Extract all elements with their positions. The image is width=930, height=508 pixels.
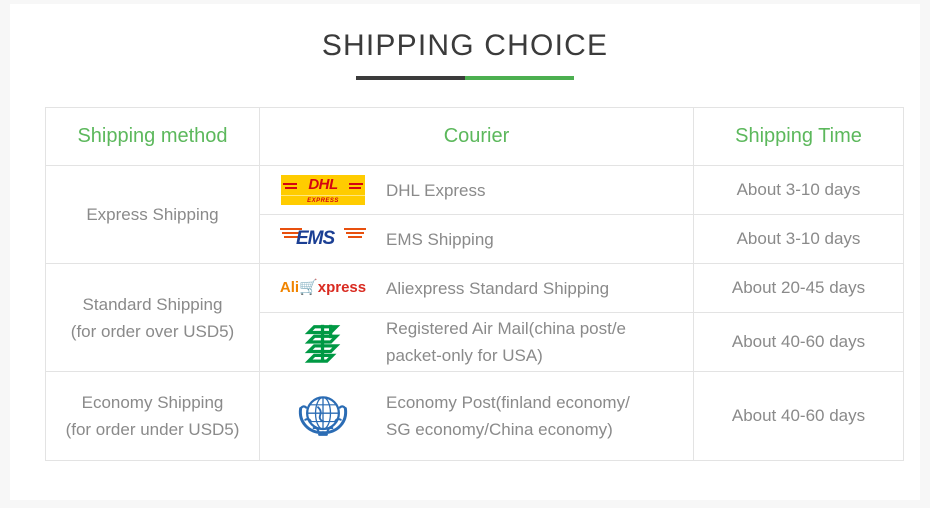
title-underline-dark-segment	[356, 76, 465, 80]
shopping-cart-icon: 🛒	[299, 279, 318, 296]
courier-name-line2: packet-only for USA)	[386, 342, 626, 369]
aliexpress-logo-ali: Ali	[280, 279, 299, 296]
time-dhl: About 3-10 days	[694, 166, 904, 215]
method-label-line1: Standard Shipping	[83, 295, 223, 314]
table-row: Standard Shipping (for order over USD5) …	[46, 264, 904, 313]
courier-cell-ems: EMS EMS Shipping	[260, 215, 694, 264]
courier-cell-china-post: Registered Air Mail(china post/e packet-…	[260, 313, 694, 372]
table-header: Shipping method Courier Shipping Time	[46, 108, 904, 166]
method-standard-shipping: Standard Shipping (for order over USD5)	[46, 264, 260, 372]
table-body: Express Shipping DHL	[46, 166, 904, 461]
dhl-logo: DHL EXPRESS	[281, 175, 365, 205]
header-courier: Courier	[260, 108, 694, 166]
courier-name-aliexpress: Aliexpress Standard Shipping	[386, 275, 619, 302]
ems-logo-wordmark: EMS	[296, 228, 334, 249]
table-row: Express Shipping DHL	[46, 166, 904, 215]
courier-name-economy-post: Economy Post(finland economy/ SG economy…	[386, 389, 640, 443]
courier-cell-economy-post: Economy Post(finland economy/ SG economy…	[260, 372, 694, 461]
dhl-logo-wordmark: DHL	[281, 176, 365, 193]
courier-name-line2: SG economy/China economy)	[386, 416, 630, 443]
method-label-line2: (for order under USD5)	[46, 416, 259, 443]
title-underline	[356, 76, 574, 80]
courier-name-china-post: Registered Air Mail(china post/e packet-…	[386, 315, 636, 369]
shipping-table-wrapper: Shipping method Courier Shipping Time Ex…	[45, 107, 885, 461]
dhl-logo-subtext: EXPRESS	[281, 198, 365, 204]
courier-cell-aliexpress: Ali🛒xpress Aliexpress Standard Shipping	[260, 264, 694, 313]
table-row: Economy Shipping (for order under USD5)	[46, 372, 904, 461]
title-block: SHIPPING CHOICE	[10, 4, 920, 80]
method-economy-shipping: Economy Shipping (for order under USD5)	[46, 372, 260, 461]
courier-name-dhl: DHL Express	[386, 177, 496, 204]
courier-name-line1: Registered Air Mail(china post/e	[386, 319, 626, 338]
ems-logo-slot: EMS	[260, 218, 386, 260]
header-shipping-method: Shipping method	[46, 108, 260, 166]
un-logo	[295, 388, 351, 444]
title-underline-green-segment	[465, 76, 574, 80]
china-post-logo	[302, 319, 344, 365]
method-label-line1: Express Shipping	[86, 205, 218, 224]
aliexpress-logo-slot: Ali🛒xpress	[260, 272, 386, 304]
time-economy-post: About 40-60 days	[694, 372, 904, 461]
method-label-line1: Economy Shipping	[82, 393, 224, 412]
china-post-logo-slot	[260, 313, 386, 371]
ems-logo: EMS	[280, 224, 366, 254]
method-label-line2: (for order over USD5)	[46, 318, 259, 345]
un-logo-slot	[260, 382, 386, 450]
shipping-choice-card: SHIPPING CHOICE Shipping method Courier …	[10, 4, 920, 500]
dhl-logo-slot: DHL EXPRESS	[260, 169, 386, 211]
aliexpress-logo-xpress: xpress	[318, 279, 366, 296]
page-title: SHIPPING CHOICE	[10, 28, 920, 64]
header-shipping-time: Shipping Time	[694, 108, 904, 166]
courier-cell-dhl: DHL EXPRESS DHL Express	[260, 166, 694, 215]
method-express-shipping: Express Shipping	[46, 166, 260, 264]
shipping-table: Shipping method Courier Shipping Time Ex…	[45, 107, 904, 461]
courier-name-ems: EMS Shipping	[386, 226, 504, 253]
time-china-post: About 40-60 days	[694, 313, 904, 372]
header-row: Shipping method Courier Shipping Time	[46, 108, 904, 166]
time-aliexpress: About 20-45 days	[694, 264, 904, 313]
courier-name-line1: Economy Post(finland economy/	[386, 393, 630, 412]
aliexpress-logo: Ali🛒xpress	[280, 278, 366, 298]
time-ems: About 3-10 days	[694, 215, 904, 264]
